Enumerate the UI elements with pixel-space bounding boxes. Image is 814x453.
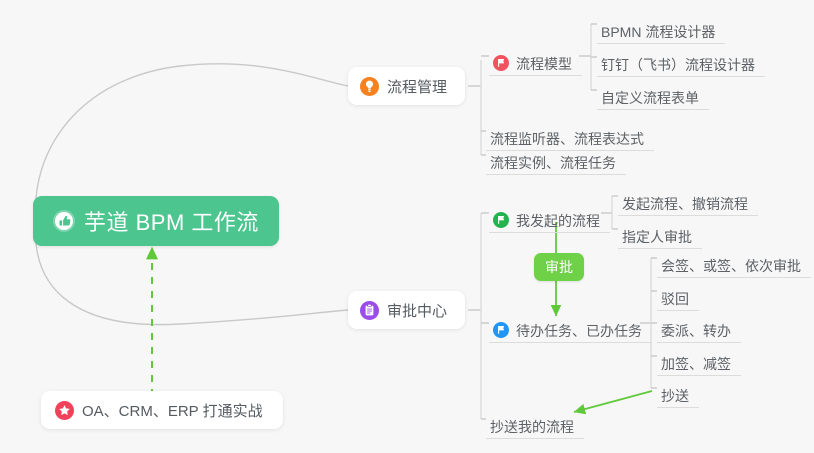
- clipboard-icon: [360, 301, 379, 320]
- branch-node-liuchengguanli[interactable]: 流程管理: [348, 67, 465, 105]
- root-node[interactable]: 芋道 BPM 工作流: [33, 196, 279, 246]
- node-label: BPMN 流程设计器: [601, 25, 715, 40]
- node-my-initiated-flows[interactable]: 我发起的流程: [489, 199, 610, 233]
- node-start-cancel-flow[interactable]: 发起流程、撤销流程: [618, 182, 758, 216]
- node-label: 流程实例、流程任务: [490, 156, 616, 171]
- root-label: 芋道 BPM 工作流: [84, 205, 259, 237]
- node-label: 加签、减签: [661, 357, 731, 372]
- star-icon: [55, 401, 74, 420]
- callout-node-integration[interactable]: OA、CRM、ERP 打通实战: [41, 391, 283, 429]
- node-liuchengmoxing[interactable]: 流程模型: [489, 42, 582, 76]
- node-label: 发起流程、撤销流程: [622, 197, 748, 212]
- arrow-label-text: 审批: [545, 257, 573, 277]
- callout-label: OA、CRM、ERP 打通实战: [82, 400, 263, 421]
- branch-node-shenpizhongxin[interactable]: 审批中心: [348, 291, 465, 329]
- node-label: 指定人审批: [622, 230, 692, 245]
- lightbulb-icon: [360, 77, 379, 96]
- node-label: 钉钉（飞书）流程设计器: [601, 58, 755, 73]
- node-label: 抄送: [661, 389, 689, 404]
- mindmap-canvas: 芋道 BPM 工作流 流程管理 流程模型 BPMN 流程设计器 钉钉（飞书）流程…: [0, 0, 814, 453]
- node-carbon-copy[interactable]: 抄送: [657, 374, 699, 408]
- node-cc-to-me-flows[interactable]: 抄送我的流程: [486, 405, 584, 439]
- branch-label: 审批中心: [387, 300, 447, 321]
- node-add-remove-sign[interactable]: 加签、减签: [657, 342, 741, 376]
- node-label: 抄送我的流程: [490, 420, 574, 435]
- node-label: 自定义流程表单: [601, 91, 699, 106]
- branch-label: 流程管理: [387, 76, 447, 97]
- node-label: 待办任务、已办任务: [516, 324, 642, 339]
- node-delegate-transfer[interactable]: 委派、转办: [657, 309, 741, 343]
- node-label: 会签、或签、依次审批: [661, 259, 801, 274]
- node-label: 流程模型: [516, 57, 572, 72]
- node-reject[interactable]: 驳回: [657, 277, 699, 311]
- flag-icon-red: [493, 55, 509, 71]
- node-label: 驳回: [661, 292, 689, 307]
- arrow-copy-to-myflow: [574, 391, 652, 412]
- node-bpmn-designer[interactable]: BPMN 流程设计器: [597, 10, 725, 44]
- node-countersign[interactable]: 会签、或签、依次审批: [657, 244, 811, 278]
- flag-icon-green: [493, 212, 509, 228]
- node-todo-done-tasks[interactable]: 待办任务、已办任务: [489, 309, 652, 343]
- flag-icon-blue: [493, 322, 509, 338]
- node-label: 我发起的流程: [516, 214, 600, 229]
- arrow-label-approval: 审批: [534, 253, 584, 281]
- node-dingding-designer[interactable]: 钉钉（飞书）流程设计器: [597, 43, 765, 77]
- node-custom-form[interactable]: 自定义流程表单: [597, 76, 709, 110]
- thumbs-up-icon: [53, 210, 75, 232]
- node-label: 委派、转办: [661, 324, 731, 339]
- node-instance-task[interactable]: 流程实例、流程任务: [486, 141, 626, 175]
